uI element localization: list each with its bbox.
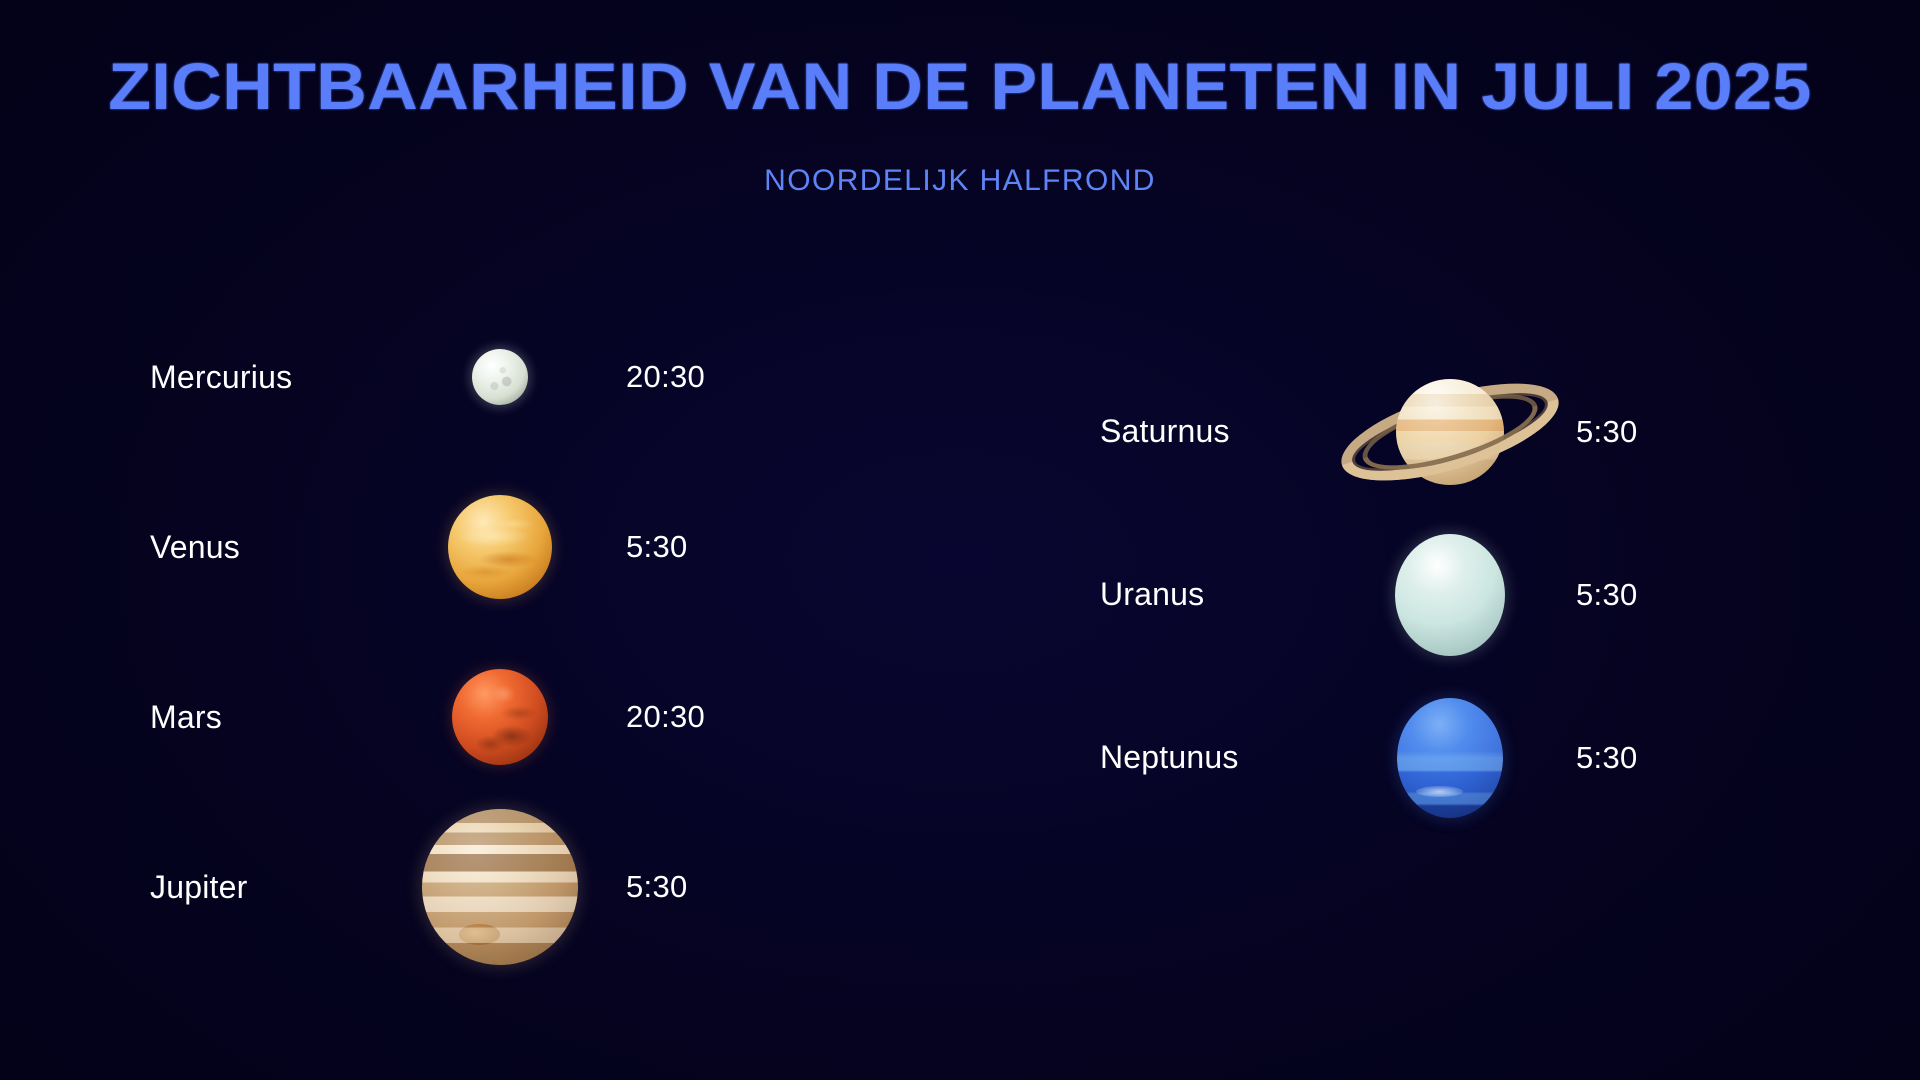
page-subtitle: NOORDELIJK HALFROND	[0, 164, 1920, 198]
planet-row-mercurius: Mercurius 20:30	[150, 292, 770, 462]
planet-row-jupiter: Jupiter 5:30	[150, 802, 770, 972]
planet-column-right: Saturnus 5:30 Uranus 5:30 Neptunus 5:30	[1100, 350, 1720, 839]
planet-saturn-icon	[1350, 347, 1550, 517]
planet-label-saturnus: Saturnus	[1100, 413, 1350, 450]
planet-row-saturnus: Saturnus 5:30	[1100, 350, 1720, 513]
planet-time-uranus: 5:30	[1576, 577, 1638, 613]
planet-jupiter-icon	[400, 802, 600, 972]
planet-time-mercurius: 20:30	[626, 359, 705, 395]
planet-time-mars: 20:30	[626, 699, 705, 735]
planet-time-saturnus: 5:30	[1576, 414, 1638, 450]
planet-mercury-icon	[400, 292, 600, 462]
planet-label-venus: Venus	[150, 529, 400, 566]
planet-time-venus: 5:30	[626, 529, 688, 565]
header: ZICHTBAARHEID VAN DE PLANETEN IN JULI 20…	[0, 0, 1920, 198]
planet-row-uranus: Uranus 5:30	[1100, 513, 1720, 676]
planet-label-mercurius: Mercurius	[150, 359, 400, 396]
planet-row-mars: Mars 20:30	[150, 632, 770, 802]
planet-column-left: Mercurius 20:30 Venus 5:30 Mars 20:30 Ju…	[150, 292, 770, 972]
planet-time-neptunus: 5:30	[1576, 740, 1638, 776]
planet-time-jupiter: 5:30	[626, 869, 688, 905]
planet-row-venus: Venus 5:30	[150, 462, 770, 632]
planet-neptune-icon	[1350, 673, 1550, 843]
page-title: ZICHTBAARHEID VAN DE PLANETEN IN JULI 20…	[0, 48, 1920, 124]
planet-label-uranus: Uranus	[1100, 576, 1350, 613]
planet-uranus-icon	[1350, 510, 1550, 680]
planet-row-neptunus: Neptunus 5:30	[1100, 676, 1720, 839]
planet-label-jupiter: Jupiter	[150, 869, 400, 906]
planet-label-neptunus: Neptunus	[1100, 739, 1350, 776]
planet-mars-icon	[400, 632, 600, 802]
planet-label-mars: Mars	[150, 699, 400, 736]
planet-venus-icon	[400, 462, 600, 632]
